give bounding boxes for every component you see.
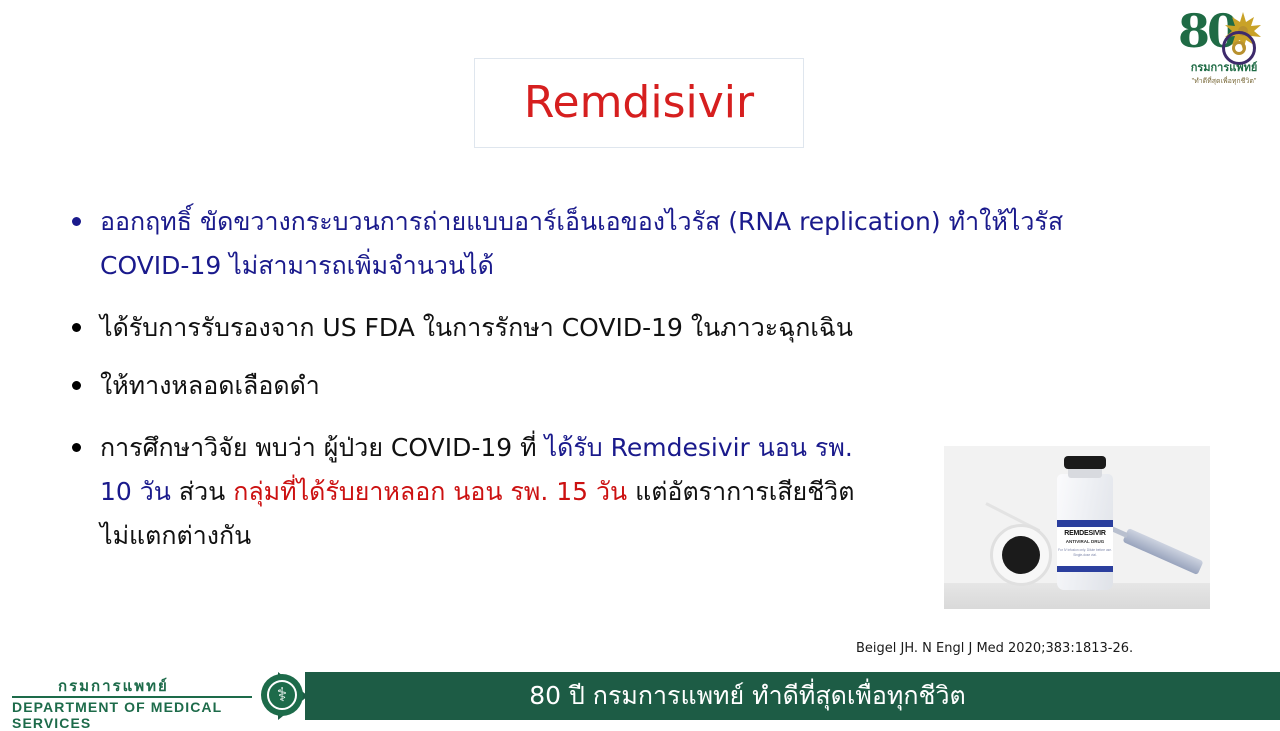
list-item: ออกฤทธิ์ ขัดขวางกระบวนการถ่ายแบบอาร์เอ็น… (62, 200, 1142, 288)
bullet-dot-icon (72, 323, 81, 332)
list-item: ให้ทางหลอดเลือดดำ (62, 364, 1142, 408)
list-item: การศึกษาวิจัย พบว่า ผู้ป่วย COVID-19 ที่… (62, 426, 880, 558)
vial-label: REMDESIVIR ANTIVIRAL DRUG For IV infusio… (1057, 520, 1113, 572)
vial-label-drug-class: ANTIVIRAL DRUG (1057, 539, 1113, 544)
bullet-dot-icon (72, 381, 81, 390)
bullet-text-segment: กลุ่มที่ได้รับยาหลอก นอน รพ. 15 วัน (233, 477, 635, 506)
citation: Beigel JH. N Engl J Med 2020;383:1813-26… (856, 641, 1133, 656)
caduceus-icon: ⚕ (261, 674, 303, 716)
vial-cap (1064, 456, 1106, 469)
list-item: ได้รับการรับรองจาก US FDA ในการรักษา COV… (62, 306, 1142, 350)
slide-title-box: Remdisivir (474, 58, 804, 148)
department-name-thai: กรมการแพทย์ (58, 674, 169, 698)
page-title: Remdisivir (524, 81, 754, 125)
bullet-dot-icon (72, 217, 81, 226)
bullet-dot-icon (72, 443, 81, 452)
department-logo-rule (12, 696, 252, 698)
footer-slogan: 80 ปี กรมการแพทย์ ทำดีที่สุดเพื่อทุกชีวิ… (305, 672, 1280, 720)
department-logo: กรมการแพทย์ DEPARTMENT OF MEDICAL SERVIC… (6, 676, 306, 720)
anniversary-logo-org: กรมการแพทย์ (1176, 58, 1272, 76)
anniversary-logo: 80 ปี กรมการแพทย์ "ทำดีที่สุดเพื่อทุกชีว… (1176, 4, 1272, 88)
vial-label-fineprint: For IV infusion only. Dilute before use.… (1057, 548, 1113, 558)
anniversary-logo-tagline: "ทำดีที่สุดเพื่อทุกชีวิต" (1176, 76, 1272, 87)
petri-dish (990, 524, 1052, 586)
bullet-text-segment: ได้รับการรับรองจาก US FDA ในการรักษา COV… (100, 313, 853, 342)
vial-label-drug-name: REMDESIVIR (1057, 530, 1113, 537)
syringe (1122, 528, 1203, 575)
bullet-text-segment: การศึกษาวิจัย พบว่า ผู้ป่วย COVID-19 ที่ (100, 433, 537, 462)
bullet-text-segment: ส่วน (179, 477, 225, 506)
bullet-text-segment: ออกฤทธิ์ ขัดขวางกระบวนการถ่ายแบบอาร์เอ็น… (100, 207, 1063, 280)
caduceus-glyph: ⚕ (261, 674, 303, 716)
footer: 80 ปี กรมการแพทย์ ทำดีที่สุดเพื่อทุกชีวิ… (0, 664, 1280, 720)
remdesivir-vial-photo: REMDESIVIR ANTIVIRAL DRUG For IV infusio… (944, 446, 1210, 609)
bullet-text-segment: ให้ทางหลอดเลือดดำ (100, 371, 320, 400)
